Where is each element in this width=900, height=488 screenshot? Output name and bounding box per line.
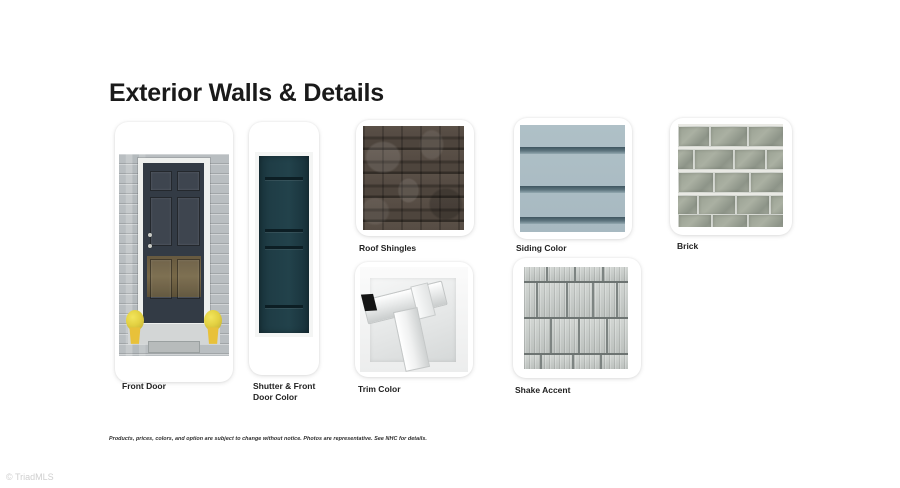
door-panel xyxy=(177,259,200,299)
brick-card xyxy=(670,118,792,235)
selection-tile-roof-shingles[interactable]: Roof Shingles xyxy=(356,120,474,250)
tile-label-shutter-front-door-color: Shutter & Front Door Color xyxy=(253,381,315,403)
tile-label-roof-shingles: Roof Shingles xyxy=(359,243,416,254)
mum-planter-right xyxy=(204,310,223,344)
door-panel xyxy=(150,197,173,247)
trim-color-card xyxy=(355,262,473,377)
shutter-slat xyxy=(265,229,303,232)
brick-course xyxy=(678,147,783,170)
shutter-body xyxy=(259,156,309,334)
siding-color-card xyxy=(514,118,632,239)
shingle-swatch xyxy=(363,126,464,230)
door-panel xyxy=(177,171,200,191)
brick-course xyxy=(678,124,783,147)
siding-swatch xyxy=(520,125,625,232)
page-title: Exterior Walls & Details xyxy=(109,79,384,108)
trim-swatch xyxy=(360,267,468,372)
shake-course xyxy=(524,267,628,283)
front-door-card xyxy=(115,122,233,382)
selection-tile-shake-accent[interactable]: Shake Accent xyxy=(513,258,641,393)
roof-shingles-card xyxy=(356,120,474,236)
door-slab xyxy=(143,163,204,322)
shutter-slat xyxy=(265,305,303,308)
shutter-card xyxy=(249,122,319,375)
tile-label-siding-color: Siding Color xyxy=(516,243,567,254)
selection-tile-siding-color[interactable]: Siding Color xyxy=(514,118,632,253)
brick-course xyxy=(678,212,783,227)
siding-shadow-line xyxy=(520,217,625,224)
tile-label-trim-color: Trim Color xyxy=(358,384,401,395)
triadmls-watermark: © TriadMLS xyxy=(6,472,54,482)
selection-tile-brick[interactable]: Brick xyxy=(670,118,792,253)
door-mat xyxy=(148,341,201,353)
tile-label-front-door: Front Door xyxy=(122,381,166,392)
disclaimer-text: Products, prices, colors, and option are… xyxy=(109,436,427,442)
brick-swatch xyxy=(678,124,783,227)
shake-course xyxy=(524,355,628,369)
shake-course xyxy=(524,319,628,355)
shutter-slat xyxy=(265,177,303,180)
shake-accent-card xyxy=(513,258,641,378)
shingle-texture xyxy=(363,126,464,230)
shutter-slat xyxy=(265,246,303,249)
shake-swatch xyxy=(524,267,628,369)
shake-course xyxy=(524,283,628,319)
door-panel xyxy=(177,197,200,247)
siding-shadow-line xyxy=(520,147,625,154)
shutter-swatch xyxy=(255,152,313,337)
selection-tile-front-door[interactable]: Front Door xyxy=(115,122,233,382)
selection-tile-shutter-front-door-color[interactable]: Shutter & Front Door Color xyxy=(249,122,319,382)
door-panel xyxy=(150,171,173,191)
door-deadbolt-icon xyxy=(148,244,152,248)
front-door-photo xyxy=(119,154,229,356)
tile-label-shake-accent: Shake Accent xyxy=(515,385,570,396)
selection-tile-trim-color[interactable]: Trim Color xyxy=(355,262,473,392)
brick-course xyxy=(678,170,783,193)
siding-shadow-line xyxy=(520,186,625,193)
mum-planter-left xyxy=(126,310,145,344)
door-panel xyxy=(150,259,173,299)
tile-label-brick: Brick xyxy=(677,241,698,252)
exterior-selections-page: Exterior Walls & Details xyxy=(0,0,900,488)
door-frame xyxy=(138,158,211,328)
